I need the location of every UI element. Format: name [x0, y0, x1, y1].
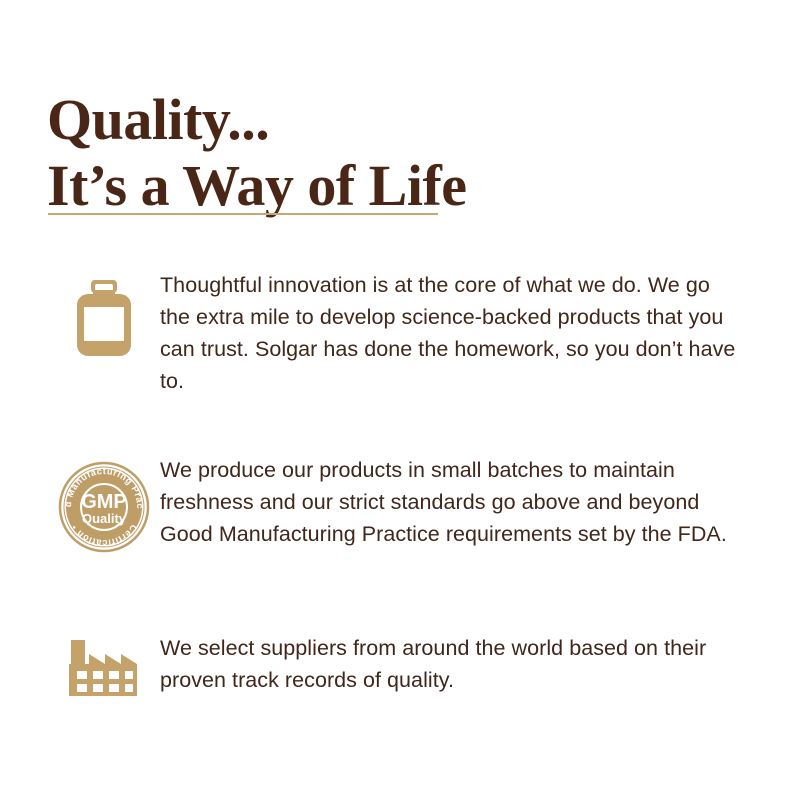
- feature-text-suppliers: We select suppliers from around the worl…: [160, 628, 740, 696]
- feature-text-innovation: Thoughtful innovation is at the core of …: [160, 258, 740, 397]
- feature-text-gmp: We produce our products in small batches…: [160, 443, 740, 550]
- feature-item-gmp: Good Manufacturing Practice Certificatio…: [0, 443, 800, 628]
- feature-list: Thoughtful innovation is at the core of …: [0, 258, 800, 738]
- gmp-center-line-1: GMP: [81, 491, 127, 513]
- heading-divider: [48, 213, 438, 215]
- gmp-center-line-2: Quality: [82, 511, 127, 526]
- page-title-line-2: It’s a Way of Life: [47, 153, 747, 219]
- quality-promo-page: Quality... It’s a Way of Life: [0, 0, 800, 800]
- feature-paragraph: We produce our products in small batches…: [160, 454, 740, 550]
- feature-item-innovation: Thoughtful innovation is at the core of …: [0, 258, 800, 443]
- supplement-jar-icon: [48, 258, 160, 356]
- factory-icon: [48, 628, 160, 698]
- feature-paragraph: Thoughtful innovation is at the core of …: [160, 269, 740, 397]
- feature-paragraph: We select suppliers from around the worl…: [160, 632, 740, 696]
- gmp-quality-seal-icon: Good Manufacturing Practice Certificatio…: [48, 443, 160, 555]
- feature-item-suppliers: We select suppliers from around the worl…: [0, 628, 800, 738]
- page-title: Quality... It’s a Way of Life: [47, 87, 747, 219]
- page-title-line-1: Quality...: [47, 87, 747, 153]
